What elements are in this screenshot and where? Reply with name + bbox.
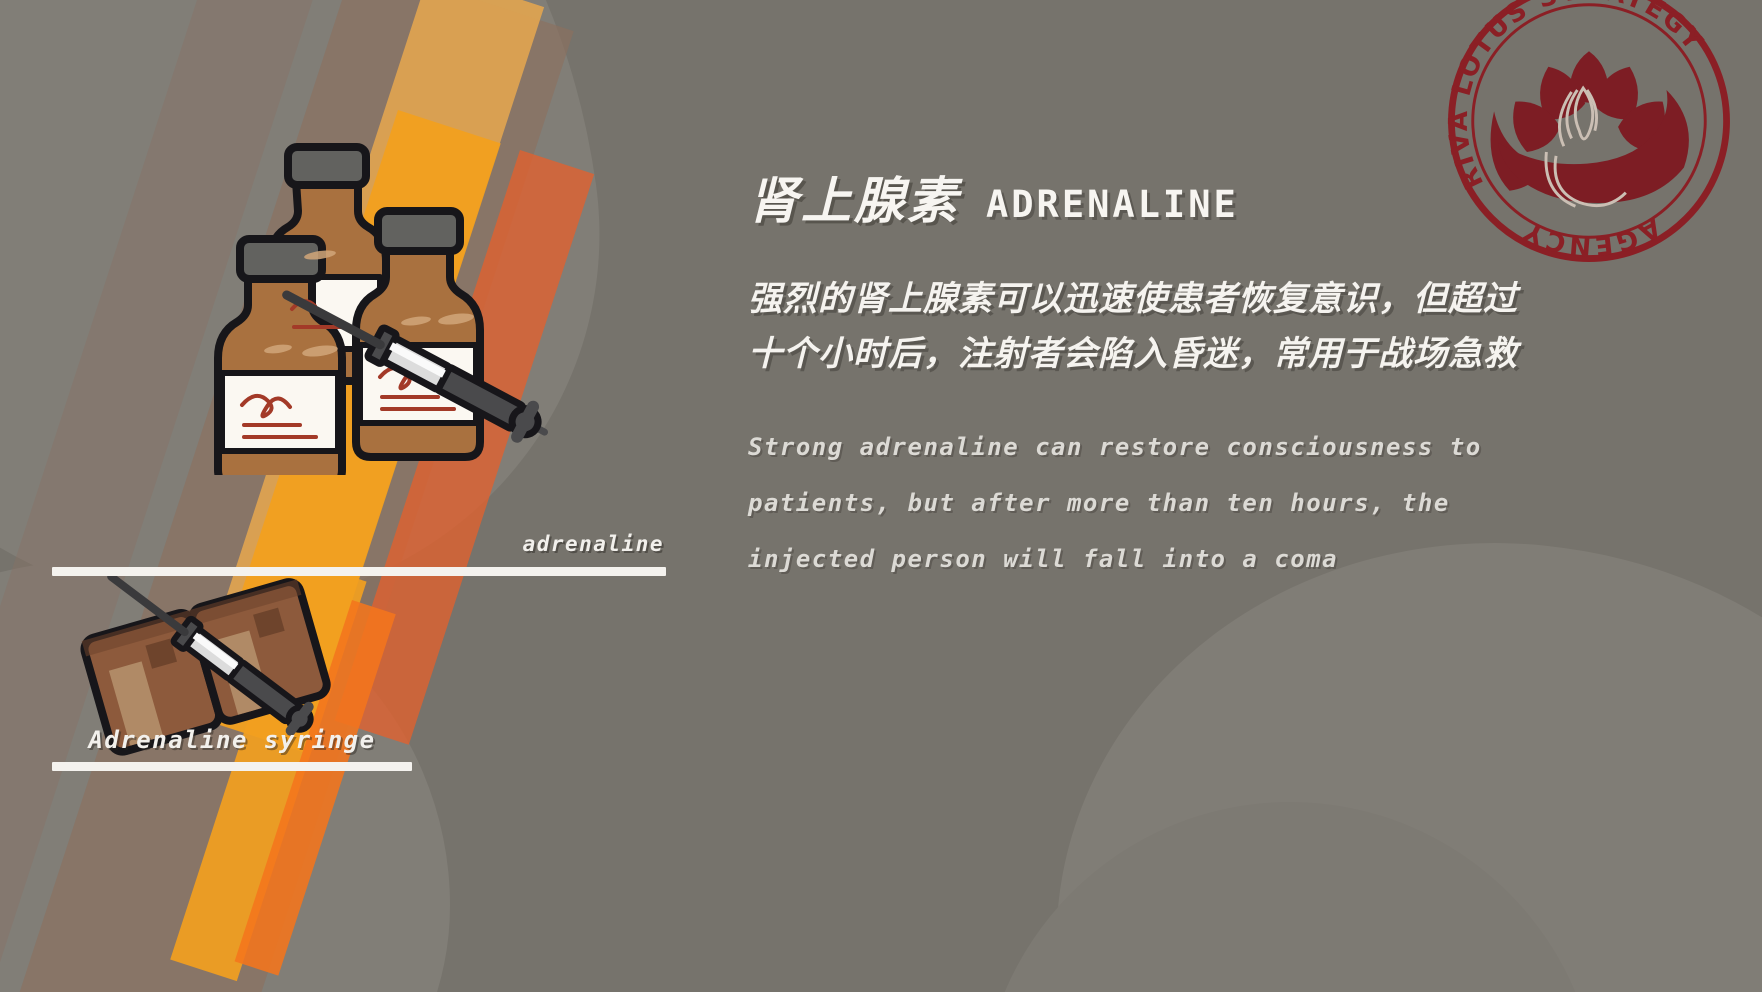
vial-front	[218, 239, 342, 475]
title-chinese: 肾上腺素	[748, 176, 960, 226]
description-english: Strong adrenaline can restore consciousn…	[748, 420, 1538, 588]
adrenaline-bottles-illustration	[200, 105, 560, 475]
description-chinese: 强烈的肾上腺素可以迅速使患者恢复意识，但超过十个小时后，注射者会陷入昏迷，常用于…	[748, 272, 1540, 382]
page-title: 肾上腺素 ADRENALINE	[748, 176, 1548, 226]
caption-adrenaline-syringe: Adrenaline syringe	[52, 728, 412, 771]
caption-adrenaline: adrenaline	[52, 534, 666, 576]
riva-lotus-seal: RIVA LOTUS STRATEGY INTLLIGENCE AGENCY	[1434, 0, 1744, 276]
caption-adrenaline-rule	[52, 567, 666, 576]
caption-adrenaline-syringe-label: Adrenaline syringe	[52, 728, 412, 752]
seal-text-bottom: AGENCY	[1518, 211, 1666, 260]
item-card: adrenaline Adrenaline syringe 肾上腺素 ADREN…	[0, 0, 1762, 992]
item-info-panel: 肾上腺素 ADRENALINE 强烈的肾上腺素可以迅速使患者恢复意识，但超过十个…	[748, 176, 1548, 588]
background-blob-bottom-mid	[980, 802, 1600, 992]
caption-adrenaline-label: adrenaline	[52, 534, 666, 555]
title-english: ADRENALINE	[986, 186, 1239, 226]
caption-adrenaline-syringe-rule	[52, 762, 412, 771]
